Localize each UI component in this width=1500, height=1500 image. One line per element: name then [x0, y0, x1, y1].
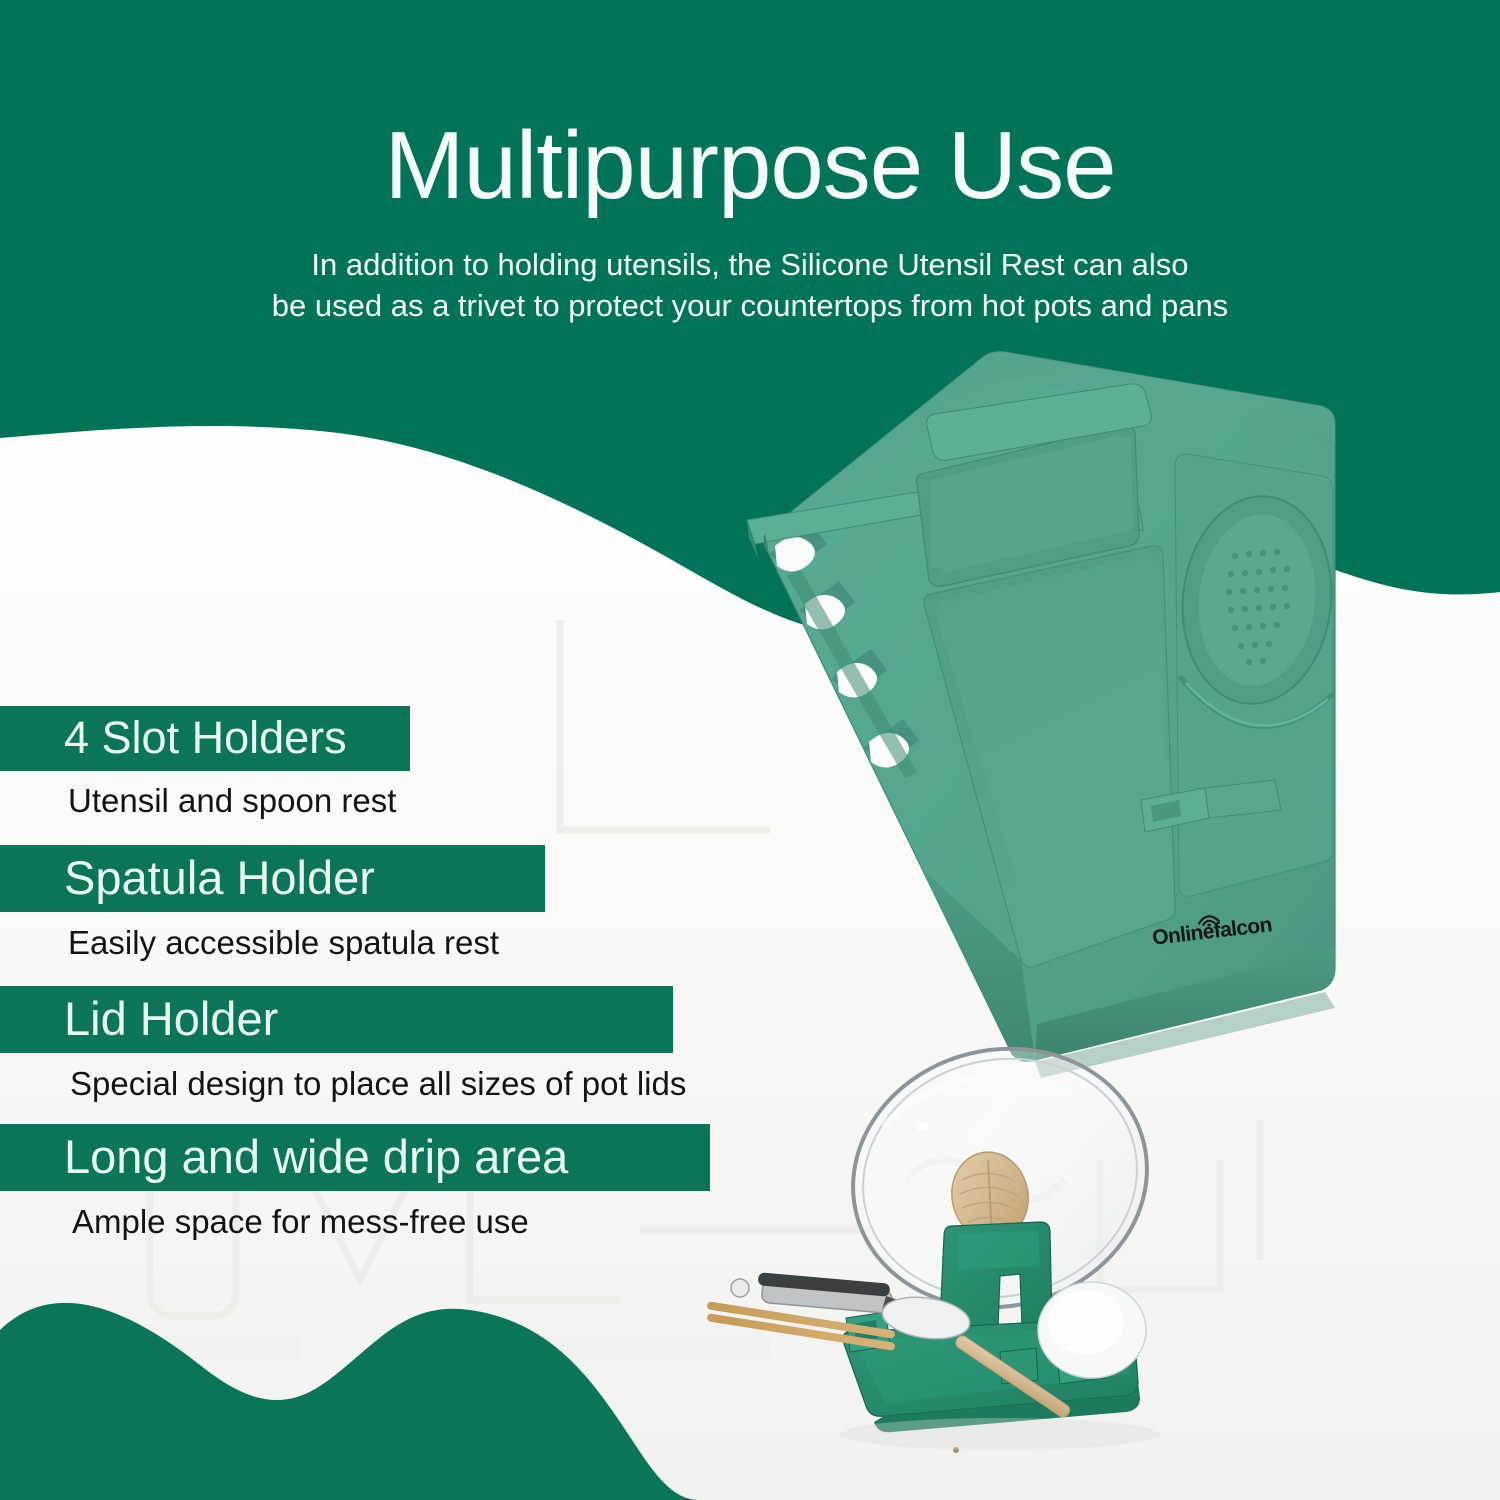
infographic-canvas: Multipurpose Use In addition to holding … — [0, 0, 1500, 1500]
wifi-arc-icon — [1196, 911, 1221, 928]
feature-description: Special design to place all sizes of pot… — [0, 1053, 780, 1118]
spoon-rest-oval — [1173, 454, 1342, 896]
feature-description: Utensil and spoon rest — [0, 771, 780, 839]
feature-label: Spatula Holder — [0, 845, 545, 912]
feature-label: Lid Holder — [0, 986, 673, 1053]
subtitle-line-1: In addition to holding utensils, the Sil… — [0, 244, 1500, 285]
feature-item-lid-holder: Lid Holder Special design to place all s… — [0, 986, 780, 1118]
subtitle-line-2: be used as a trivet to protect your coun… — [0, 285, 1500, 326]
feature-item-spatula-holder: Spatula Holder Easily accessible spatula… — [0, 845, 780, 979]
feature-label: 4 Slot Holders — [0, 706, 410, 771]
feature-list: 4 Slot Holders Utensil and spoon rest Sp… — [0, 706, 780, 1246]
feature-description: Ample space for mess-free use — [0, 1191, 780, 1240]
feature-item-drip-area: Long and wide drip area Ample space for … — [0, 1124, 780, 1240]
product-image-utensil-rest — [735, 348, 1360, 1078]
feature-description: Easily accessible spatula rest — [0, 912, 780, 979]
page-subtitle: In addition to holding utensils, the Sil… — [0, 244, 1500, 326]
feature-item-slot-holders: 4 Slot Holders Utensil and spoon rest — [0, 706, 780, 839]
page-title: Multipurpose Use — [0, 118, 1500, 214]
feature-label: Long and wide drip area — [0, 1124, 710, 1191]
header-block: Multipurpose Use In addition to holding … — [0, 0, 1500, 326]
